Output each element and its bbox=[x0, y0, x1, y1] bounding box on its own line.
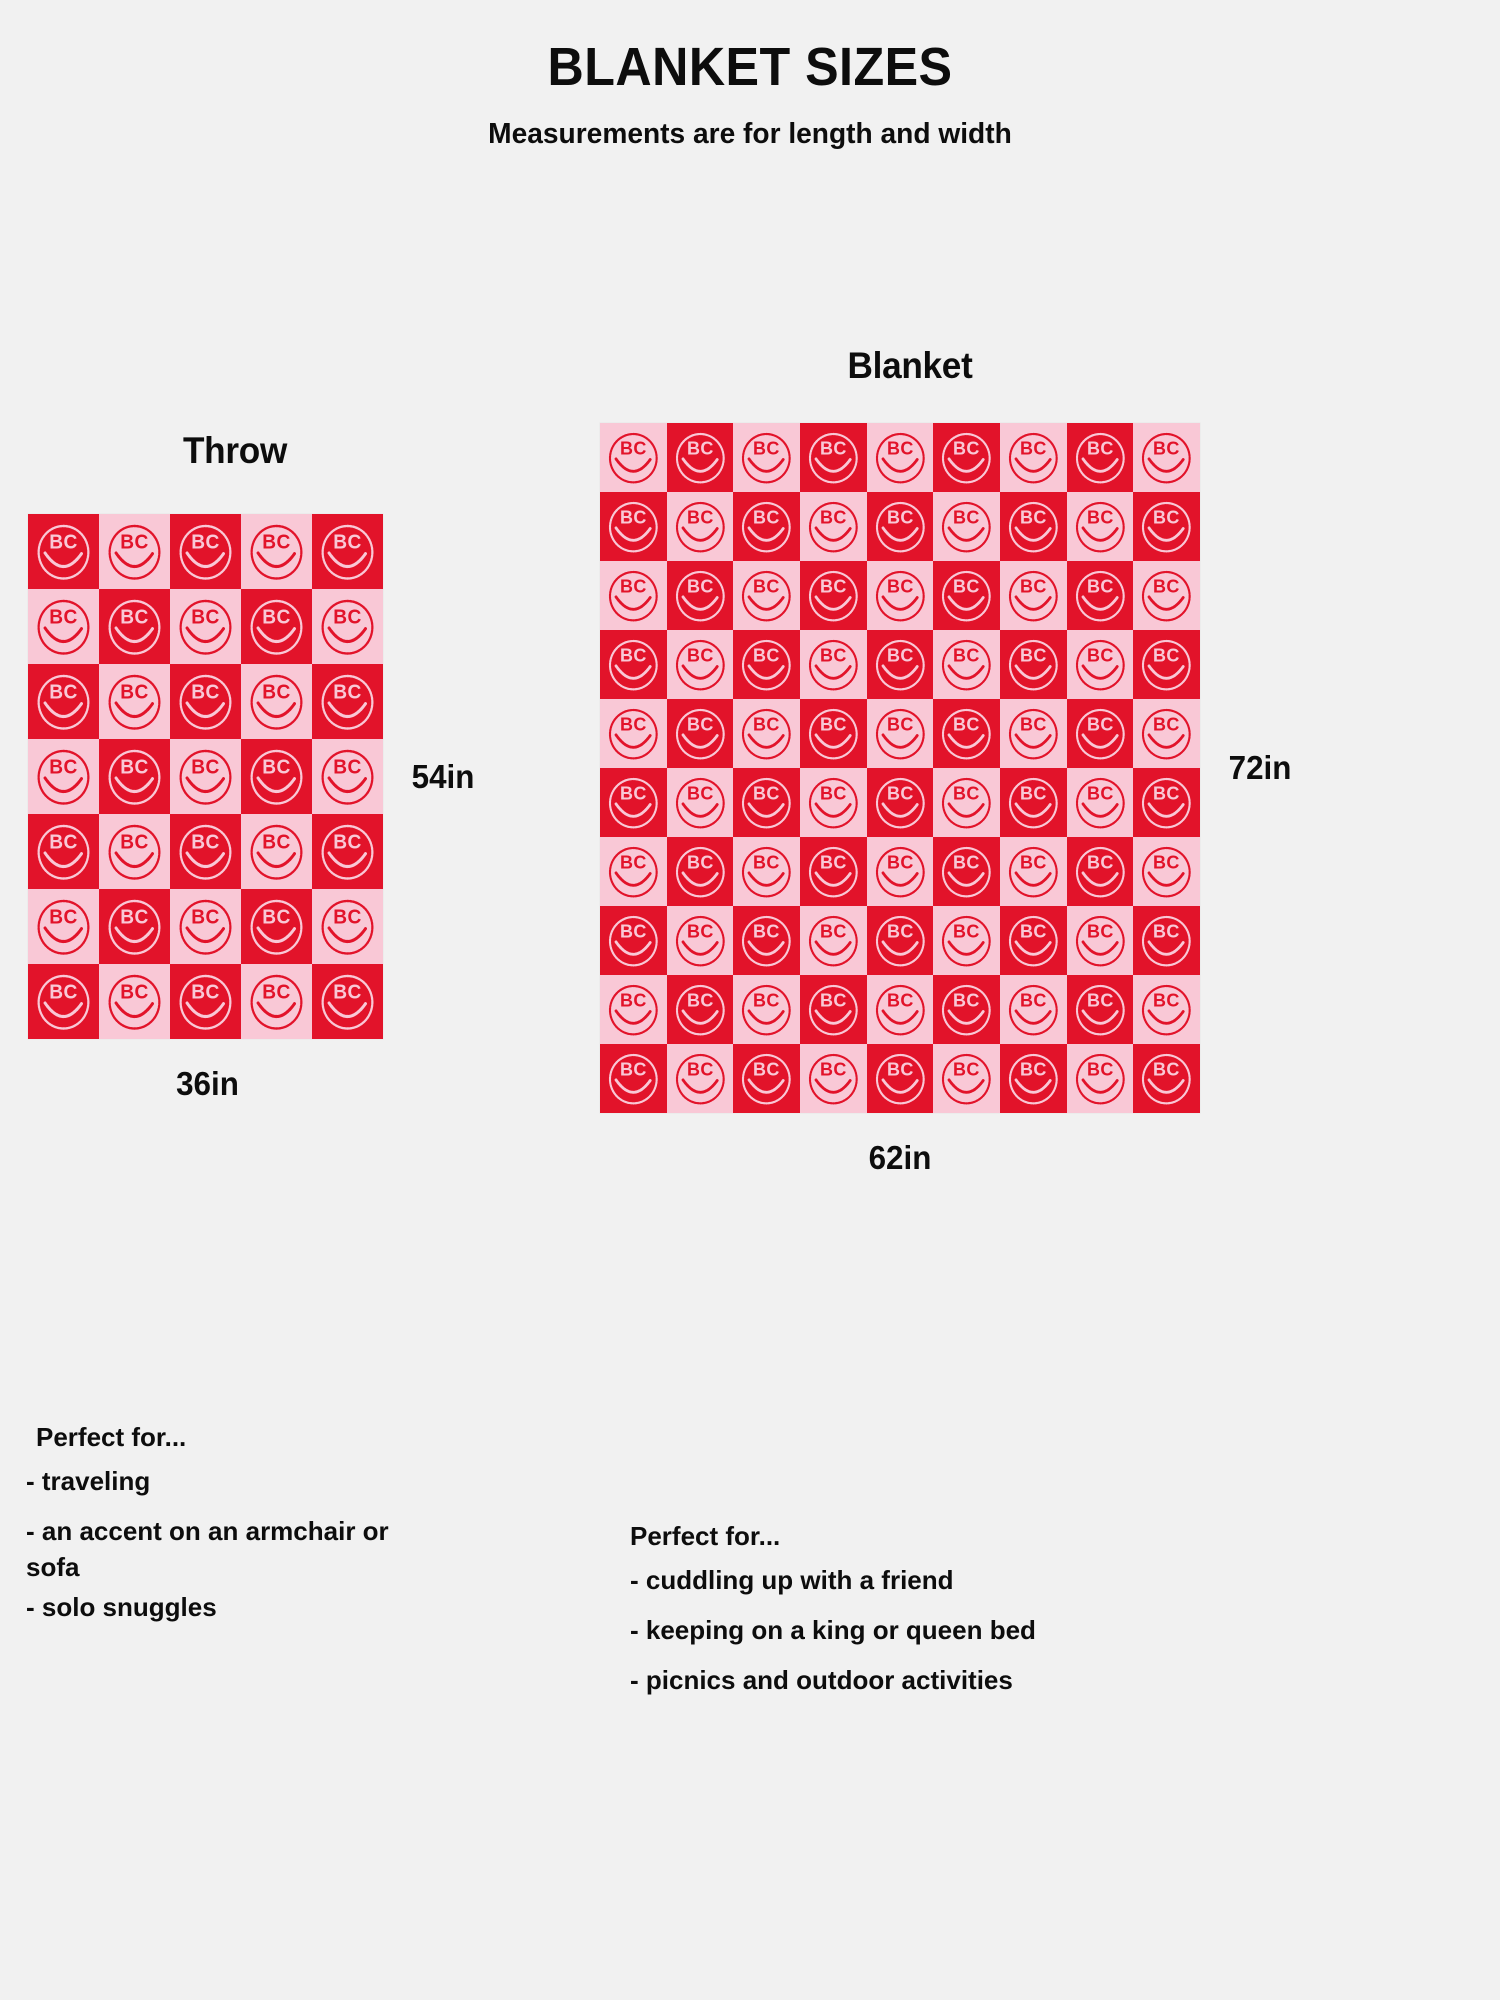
svg-text:BC: BC bbox=[953, 713, 980, 734]
svg-text:BC: BC bbox=[191, 681, 219, 704]
svg-text:BC: BC bbox=[191, 906, 219, 929]
swatch-cell-pink: BC bbox=[99, 964, 170, 1039]
svg-text:BC: BC bbox=[191, 531, 219, 554]
swatch-cell-pink: BC bbox=[28, 889, 99, 964]
svg-text:BC: BC bbox=[620, 437, 647, 458]
swatch-cell-pink: BC bbox=[867, 561, 934, 630]
swatch-cell-pink: BC bbox=[933, 492, 1000, 561]
svg-text:BC: BC bbox=[620, 644, 647, 665]
svg-text:BC: BC bbox=[1153, 920, 1180, 941]
swatch-cell-red: BC bbox=[170, 814, 241, 889]
swatch-cell-red: BC bbox=[867, 630, 934, 699]
product-blanket: Blanket BCBCBCBCBCBCBCBCBCBCBCBCBCBCBCBC… bbox=[600, 345, 1500, 1177]
svg-text:BC: BC bbox=[887, 920, 914, 941]
swatch-cell-red: BC bbox=[1000, 768, 1067, 837]
svg-text:BC: BC bbox=[1020, 713, 1047, 734]
svg-text:BC: BC bbox=[1020, 989, 1047, 1010]
svg-text:BC: BC bbox=[753, 851, 780, 872]
swatch-cell-red: BC bbox=[1133, 906, 1200, 975]
svg-text:BC: BC bbox=[1087, 506, 1114, 527]
swatch-cell-red: BC bbox=[312, 514, 383, 589]
swatch-cell-red: BC bbox=[1000, 630, 1067, 699]
swatch-cell-red: BC bbox=[800, 561, 867, 630]
swatch-cell-red: BC bbox=[1133, 768, 1200, 837]
swatch-cell-red: BC bbox=[312, 814, 383, 889]
swatch-cell-red: BC bbox=[600, 492, 667, 561]
svg-text:BC: BC bbox=[49, 606, 77, 629]
throw-perfect-item: - an accent on an armchair or sofa bbox=[26, 1500, 446, 1586]
swatch-cell-pink: BC bbox=[933, 1044, 1000, 1113]
svg-text:BC: BC bbox=[333, 756, 361, 779]
swatch-cell-red: BC bbox=[170, 664, 241, 739]
swatch-cell-pink: BC bbox=[667, 492, 734, 561]
swatch-cell-red: BC bbox=[1000, 906, 1067, 975]
swatch-cell-pink: BC bbox=[170, 739, 241, 814]
swatch-cell-pink: BC bbox=[1000, 423, 1067, 492]
swatch-cell-red: BC bbox=[933, 561, 1000, 630]
svg-text:BC: BC bbox=[1020, 575, 1047, 596]
svg-text:BC: BC bbox=[333, 981, 361, 1004]
svg-text:BC: BC bbox=[262, 531, 290, 554]
svg-text:BC: BC bbox=[753, 506, 780, 527]
swatch-cell-red: BC bbox=[1067, 699, 1134, 768]
svg-text:BC: BC bbox=[333, 606, 361, 629]
svg-text:BC: BC bbox=[49, 906, 77, 929]
swatch-cell-red: BC bbox=[170, 964, 241, 1039]
svg-text:BC: BC bbox=[753, 920, 780, 941]
svg-text:BC: BC bbox=[953, 506, 980, 527]
svg-text:BC: BC bbox=[120, 606, 148, 629]
throw-length-label: 54in bbox=[412, 758, 475, 796]
swatch-cell-pink: BC bbox=[667, 768, 734, 837]
svg-text:BC: BC bbox=[820, 782, 847, 803]
page-header: BLANKET SIZES Measurements are for lengt… bbox=[0, 40, 1500, 151]
svg-text:BC: BC bbox=[1087, 437, 1114, 458]
svg-text:BC: BC bbox=[120, 981, 148, 1004]
svg-text:BC: BC bbox=[620, 575, 647, 596]
svg-text:BC: BC bbox=[262, 906, 290, 929]
swatch-cell-red: BC bbox=[28, 964, 99, 1039]
svg-text:BC: BC bbox=[887, 644, 914, 665]
svg-text:BC: BC bbox=[887, 506, 914, 527]
svg-text:BC: BC bbox=[820, 851, 847, 872]
svg-text:BC: BC bbox=[49, 681, 77, 704]
swatch-cell-pink: BC bbox=[1067, 492, 1134, 561]
svg-text:BC: BC bbox=[49, 756, 77, 779]
swatch-cell-red: BC bbox=[933, 837, 1000, 906]
svg-text:BC: BC bbox=[191, 606, 219, 629]
throw-perfect-heading: Perfect for... bbox=[26, 1424, 446, 1450]
swatch-cell-pink: BC bbox=[933, 768, 1000, 837]
swatch-cell-pink: BC bbox=[600, 423, 667, 492]
blanket-length-label: 72in bbox=[1229, 749, 1292, 787]
svg-text:BC: BC bbox=[1020, 437, 1047, 458]
svg-text:BC: BC bbox=[1153, 989, 1180, 1010]
svg-text:BC: BC bbox=[1087, 782, 1114, 803]
swatch-cell-pink: BC bbox=[312, 889, 383, 964]
swatch-cell-pink: BC bbox=[600, 561, 667, 630]
swatch-cell-red: BC bbox=[1133, 630, 1200, 699]
swatch-cell-pink: BC bbox=[733, 423, 800, 492]
swatch-cell-pink: BC bbox=[667, 630, 734, 699]
swatch-cell-red: BC bbox=[1067, 561, 1134, 630]
swatch-cell-pink: BC bbox=[241, 514, 312, 589]
swatch-cell-pink: BC bbox=[1067, 768, 1134, 837]
svg-text:BC: BC bbox=[820, 920, 847, 941]
svg-text:BC: BC bbox=[1153, 506, 1180, 527]
swatch-cell-pink: BC bbox=[667, 1044, 734, 1113]
svg-text:BC: BC bbox=[191, 831, 219, 854]
swatch-cell-red: BC bbox=[99, 889, 170, 964]
svg-text:BC: BC bbox=[687, 782, 714, 803]
svg-text:BC: BC bbox=[753, 644, 780, 665]
page-title: BLANKET SIZES bbox=[53, 40, 1448, 94]
svg-text:BC: BC bbox=[620, 506, 647, 527]
swatch-cell-pink: BC bbox=[733, 837, 800, 906]
svg-text:BC: BC bbox=[820, 437, 847, 458]
swatch-cell-pink: BC bbox=[1133, 699, 1200, 768]
swatch-cell-pink: BC bbox=[28, 739, 99, 814]
svg-text:BC: BC bbox=[1153, 782, 1180, 803]
svg-text:BC: BC bbox=[262, 681, 290, 704]
swatch-cell-pink: BC bbox=[1133, 975, 1200, 1044]
swatch-cell-red: BC bbox=[733, 906, 800, 975]
svg-text:BC: BC bbox=[262, 981, 290, 1004]
swatch-cell-pink: BC bbox=[800, 768, 867, 837]
svg-text:BC: BC bbox=[687, 713, 714, 734]
swatch-cell-red: BC bbox=[312, 664, 383, 739]
swatch-cell-pink: BC bbox=[99, 664, 170, 739]
swatch-cell-pink: BC bbox=[600, 699, 667, 768]
svg-text:BC: BC bbox=[687, 920, 714, 941]
blanket-perfect-heading: Perfect for... bbox=[630, 1523, 1280, 1549]
swatch-cell-pink: BC bbox=[800, 906, 867, 975]
swatch-cell-pink: BC bbox=[867, 699, 934, 768]
throw-title: Throw bbox=[12, 430, 459, 472]
svg-text:BC: BC bbox=[887, 575, 914, 596]
svg-text:BC: BC bbox=[687, 437, 714, 458]
swatch-cell-pink: BC bbox=[933, 906, 1000, 975]
svg-text:BC: BC bbox=[1020, 851, 1047, 872]
swatch-cell-red: BC bbox=[99, 739, 170, 814]
svg-text:BC: BC bbox=[887, 851, 914, 872]
svg-text:BC: BC bbox=[333, 831, 361, 854]
svg-text:BC: BC bbox=[620, 713, 647, 734]
swatch-cell-red: BC bbox=[312, 964, 383, 1039]
svg-text:BC: BC bbox=[120, 906, 148, 929]
svg-text:BC: BC bbox=[753, 782, 780, 803]
svg-text:BC: BC bbox=[887, 713, 914, 734]
svg-text:BC: BC bbox=[333, 906, 361, 929]
svg-text:BC: BC bbox=[620, 989, 647, 1010]
swatch-cell-pink: BC bbox=[800, 1044, 867, 1113]
swatch-cell-red: BC bbox=[867, 492, 934, 561]
swatch-cell-red: BC bbox=[1000, 492, 1067, 561]
svg-text:BC: BC bbox=[620, 920, 647, 941]
swatch-cell-pink: BC bbox=[312, 589, 383, 664]
svg-text:BC: BC bbox=[687, 989, 714, 1010]
throw-swatch-row: BCBCBCBCBCBCBCBCBCBCBCBCBCBCBCBCBCBCBCBC… bbox=[28, 514, 620, 1039]
svg-text:BC: BC bbox=[687, 644, 714, 665]
swatch-cell-red: BC bbox=[867, 906, 934, 975]
swatch-cell-pink: BC bbox=[28, 589, 99, 664]
blanket-width-label: 62in bbox=[615, 1139, 1185, 1177]
swatch-cell-pink: BC bbox=[241, 964, 312, 1039]
swatch-cell-pink: BC bbox=[1133, 561, 1200, 630]
blanket-title: Blanket bbox=[616, 345, 1205, 387]
svg-text:BC: BC bbox=[753, 575, 780, 596]
swatch-cell-red: BC bbox=[800, 699, 867, 768]
svg-text:BC: BC bbox=[1020, 920, 1047, 941]
swatch-cell-red: BC bbox=[99, 589, 170, 664]
svg-text:BC: BC bbox=[953, 644, 980, 665]
swatch-cell-pink: BC bbox=[241, 664, 312, 739]
swatch-cell-pink: BC bbox=[733, 975, 800, 1044]
swatch-cell-red: BC bbox=[1133, 492, 1200, 561]
svg-text:BC: BC bbox=[820, 575, 847, 596]
svg-text:BC: BC bbox=[1087, 851, 1114, 872]
product-throw: Throw BCBCBCBCBCBCBCBCBCBCBCBCBCBCBCBCBC… bbox=[0, 430, 620, 1103]
swatch-cell-red: BC bbox=[28, 664, 99, 739]
swatch-cell-pink: BC bbox=[99, 514, 170, 589]
swatch-cell-red: BC bbox=[667, 423, 734, 492]
blanket-swatch-image: BCBCBCBCBCBCBCBCBCBCBCBCBCBCBCBCBCBCBCBC… bbox=[600, 423, 1200, 1113]
svg-text:BC: BC bbox=[820, 644, 847, 665]
swatch-cell-red: BC bbox=[733, 630, 800, 699]
throw-perfect-item: - traveling bbox=[26, 1450, 446, 1500]
svg-text:BC: BC bbox=[120, 681, 148, 704]
blanket-perfect-item: - picnics and outdoor activities bbox=[630, 1649, 1280, 1699]
svg-text:BC: BC bbox=[820, 1058, 847, 1079]
svg-text:BC: BC bbox=[953, 989, 980, 1010]
throw-swatch-image: BCBCBCBCBCBCBCBCBCBCBCBCBCBCBCBCBCBCBCBC… bbox=[28, 514, 383, 1039]
swatch-cell-pink: BC bbox=[933, 630, 1000, 699]
swatch-cell-pink: BC bbox=[170, 589, 241, 664]
svg-text:BC: BC bbox=[620, 782, 647, 803]
swatch-cell-red: BC bbox=[733, 492, 800, 561]
swatch-cell-pink: BC bbox=[1000, 837, 1067, 906]
swatch-cell-red: BC bbox=[600, 1044, 667, 1113]
svg-text:BC: BC bbox=[262, 606, 290, 629]
svg-text:BC: BC bbox=[49, 531, 77, 554]
svg-text:BC: BC bbox=[1020, 506, 1047, 527]
swatch-cell-red: BC bbox=[733, 1044, 800, 1113]
svg-text:BC: BC bbox=[687, 506, 714, 527]
swatch-cell-pink: BC bbox=[733, 561, 800, 630]
svg-text:BC: BC bbox=[120, 831, 148, 854]
svg-text:BC: BC bbox=[687, 851, 714, 872]
swatch-cell-pink: BC bbox=[600, 975, 667, 1044]
svg-text:BC: BC bbox=[191, 756, 219, 779]
swatch-cell-red: BC bbox=[867, 768, 934, 837]
blanket-perfect-item: - keeping on a king or queen bed bbox=[630, 1599, 1280, 1649]
svg-text:BC: BC bbox=[753, 437, 780, 458]
throw-perfect-for: Perfect for... - traveling - an accent o… bbox=[26, 1424, 446, 1626]
svg-text:BC: BC bbox=[333, 681, 361, 704]
swatch-cell-red: BC bbox=[1067, 423, 1134, 492]
throw-perfect-item: - solo snuggles bbox=[26, 1586, 446, 1626]
svg-text:BC: BC bbox=[1087, 1058, 1114, 1079]
page-subtitle: Measurements are for length and width bbox=[23, 94, 1478, 151]
swatch-cell-red: BC bbox=[733, 768, 800, 837]
svg-text:BC: BC bbox=[820, 989, 847, 1010]
swatch-cell-pink: BC bbox=[312, 739, 383, 814]
swatch-cell-red: BC bbox=[933, 975, 1000, 1044]
svg-text:BC: BC bbox=[953, 920, 980, 941]
svg-text:BC: BC bbox=[262, 756, 290, 779]
svg-text:BC: BC bbox=[49, 981, 77, 1004]
blanket-swatch-row: BCBCBCBCBCBCBCBCBCBCBCBCBCBCBCBCBCBCBCBC… bbox=[600, 423, 1500, 1113]
svg-text:BC: BC bbox=[1153, 713, 1180, 734]
swatch-cell-pink: BC bbox=[170, 889, 241, 964]
swatch-cell-red: BC bbox=[667, 975, 734, 1044]
swatch-cell-red: BC bbox=[241, 739, 312, 814]
swatch-cell-pink: BC bbox=[1067, 906, 1134, 975]
svg-text:BC: BC bbox=[953, 575, 980, 596]
svg-text:BC: BC bbox=[953, 1058, 980, 1079]
swatch-cell-red: BC bbox=[800, 423, 867, 492]
svg-text:BC: BC bbox=[1153, 851, 1180, 872]
svg-text:BC: BC bbox=[820, 506, 847, 527]
swatch-cell-red: BC bbox=[933, 699, 1000, 768]
swatch-cell-pink: BC bbox=[800, 492, 867, 561]
swatch-cell-pink: BC bbox=[867, 975, 934, 1044]
swatch-cell-pink: BC bbox=[1000, 561, 1067, 630]
svg-text:BC: BC bbox=[1153, 575, 1180, 596]
swatch-cell-red: BC bbox=[667, 699, 734, 768]
svg-text:BC: BC bbox=[753, 989, 780, 1010]
svg-text:BC: BC bbox=[687, 1058, 714, 1079]
svg-text:BC: BC bbox=[333, 531, 361, 554]
swatch-cell-red: BC bbox=[170, 514, 241, 589]
swatch-cell-red: BC bbox=[1067, 837, 1134, 906]
swatch-cell-pink: BC bbox=[867, 837, 934, 906]
svg-text:BC: BC bbox=[753, 713, 780, 734]
svg-text:BC: BC bbox=[262, 831, 290, 854]
swatch-cell-pink: BC bbox=[1000, 699, 1067, 768]
blanket-perfect-item: - cuddling up with a friend bbox=[630, 1549, 1280, 1599]
swatch-cell-pink: BC bbox=[99, 814, 170, 889]
svg-text:BC: BC bbox=[620, 1058, 647, 1079]
svg-text:BC: BC bbox=[620, 851, 647, 872]
svg-text:BC: BC bbox=[953, 437, 980, 458]
swatch-cell-pink: BC bbox=[1133, 423, 1200, 492]
svg-text:BC: BC bbox=[49, 831, 77, 854]
svg-text:BC: BC bbox=[1087, 575, 1114, 596]
svg-text:BC: BC bbox=[953, 782, 980, 803]
swatch-cell-pink: BC bbox=[1133, 837, 1200, 906]
swatch-cell-red: BC bbox=[667, 561, 734, 630]
svg-text:BC: BC bbox=[887, 1058, 914, 1079]
swatch-cell-red: BC bbox=[1133, 1044, 1200, 1113]
swatch-cell-pink: BC bbox=[867, 423, 934, 492]
svg-text:BC: BC bbox=[1020, 644, 1047, 665]
swatch-cell-pink: BC bbox=[1067, 630, 1134, 699]
swatch-cell-pink: BC bbox=[800, 630, 867, 699]
swatch-cell-red: BC bbox=[800, 975, 867, 1044]
svg-text:BC: BC bbox=[191, 981, 219, 1004]
svg-text:BC: BC bbox=[953, 851, 980, 872]
svg-text:BC: BC bbox=[887, 437, 914, 458]
swatch-cell-red: BC bbox=[1000, 1044, 1067, 1113]
swatch-cell-pink: BC bbox=[1067, 1044, 1134, 1113]
swatch-cell-red: BC bbox=[28, 514, 99, 589]
svg-text:BC: BC bbox=[887, 782, 914, 803]
swatch-cell-red: BC bbox=[241, 889, 312, 964]
svg-text:BC: BC bbox=[1087, 713, 1114, 734]
swatch-cell-red: BC bbox=[933, 423, 1000, 492]
swatch-cell-red: BC bbox=[241, 589, 312, 664]
swatch-cell-pink: BC bbox=[600, 837, 667, 906]
swatch-cell-red: BC bbox=[28, 814, 99, 889]
svg-text:BC: BC bbox=[120, 756, 148, 779]
svg-text:BC: BC bbox=[1020, 782, 1047, 803]
swatch-cell-pink: BC bbox=[733, 699, 800, 768]
swatch-cell-red: BC bbox=[600, 768, 667, 837]
swatch-cell-pink: BC bbox=[667, 906, 734, 975]
swatch-cell-red: BC bbox=[600, 630, 667, 699]
svg-text:BC: BC bbox=[753, 1058, 780, 1079]
svg-text:BC: BC bbox=[1087, 920, 1114, 941]
svg-text:BC: BC bbox=[1087, 989, 1114, 1010]
svg-text:BC: BC bbox=[687, 575, 714, 596]
svg-text:BC: BC bbox=[1153, 1058, 1180, 1079]
svg-text:BC: BC bbox=[1153, 644, 1180, 665]
swatch-cell-red: BC bbox=[667, 837, 734, 906]
svg-text:BC: BC bbox=[120, 531, 148, 554]
svg-text:BC: BC bbox=[887, 989, 914, 1010]
swatch-cell-pink: BC bbox=[241, 814, 312, 889]
blanket-perfect-for: Perfect for... - cuddling up with a frie… bbox=[630, 1523, 1280, 1699]
svg-text:BC: BC bbox=[1153, 437, 1180, 458]
svg-text:BC: BC bbox=[1020, 1058, 1047, 1079]
swatch-cell-red: BC bbox=[867, 1044, 934, 1113]
swatch-cell-red: BC bbox=[600, 906, 667, 975]
svg-text:BC: BC bbox=[820, 713, 847, 734]
swatch-cell-pink: BC bbox=[1000, 975, 1067, 1044]
throw-width-label: 36in bbox=[10, 1065, 404, 1103]
svg-text:BC: BC bbox=[1087, 644, 1114, 665]
swatch-cell-red: BC bbox=[800, 837, 867, 906]
swatch-cell-red: BC bbox=[1067, 975, 1134, 1044]
